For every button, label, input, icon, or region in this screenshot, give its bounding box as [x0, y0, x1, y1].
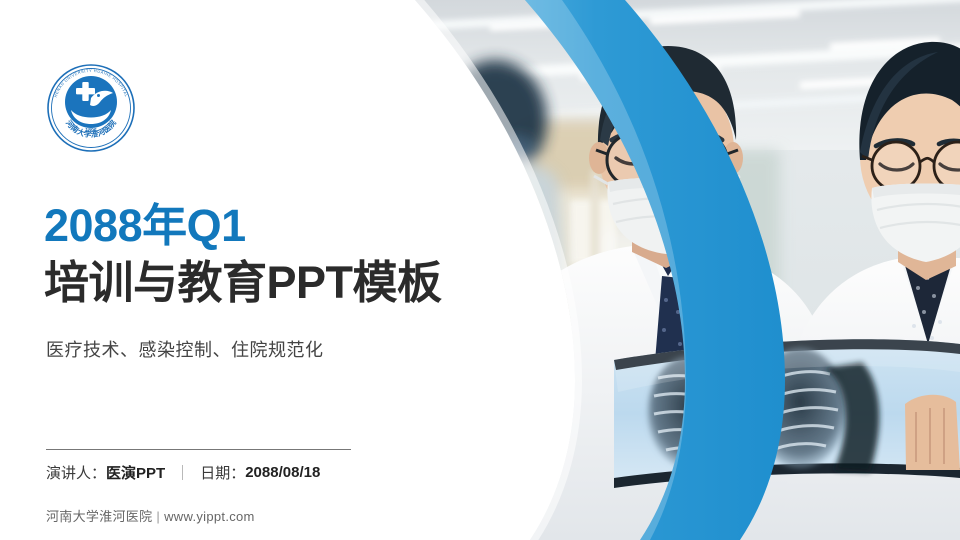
footer-separator: |: [156, 509, 160, 524]
presentation-title-slide: HENAN UNIVERSITY HUAIHE HOSPITAL 河南大学淮河医…: [0, 0, 960, 540]
speaker-label: 演讲人：: [46, 462, 106, 483]
divider-rule: [46, 449, 351, 450]
title-block: 2088年Q1 培训与教育PPT模板: [44, 199, 564, 311]
left-content-column: HENAN UNIVERSITY HUAIHE HOSPITAL 河南大学淮河医…: [0, 0, 420, 540]
title-line-year: 2088年Q1: [44, 199, 564, 253]
date-label: 日期：: [200, 462, 245, 483]
meta-separator: [182, 465, 183, 480]
subtitle: 医疗技术、感染控制、住院规范化: [46, 337, 324, 363]
footer-line: 河南大学淮河医院|www.yippt.com: [46, 506, 255, 525]
svg-text:1896: 1896: [85, 128, 97, 134]
footer-organization: 河南大学淮河医院: [46, 509, 152, 524]
hospital-logo: HENAN UNIVERSITY HUAIHE HOSPITAL 河南大学淮河医…: [45, 62, 137, 154]
meta-row: 演讲人： 医演PPT 日期： 2088/08/18: [46, 462, 320, 483]
date-value: 2088/08/18: [245, 464, 320, 481]
speaker-value: 医演PPT: [106, 462, 165, 483]
footer-website[interactable]: www.yippt.com: [164, 509, 255, 524]
hospital-emblem-icon: HENAN UNIVERSITY HUAIHE HOSPITAL 河南大学淮河医…: [45, 62, 137, 154]
title-line-main: 培训与教育PPT模板: [44, 255, 564, 311]
